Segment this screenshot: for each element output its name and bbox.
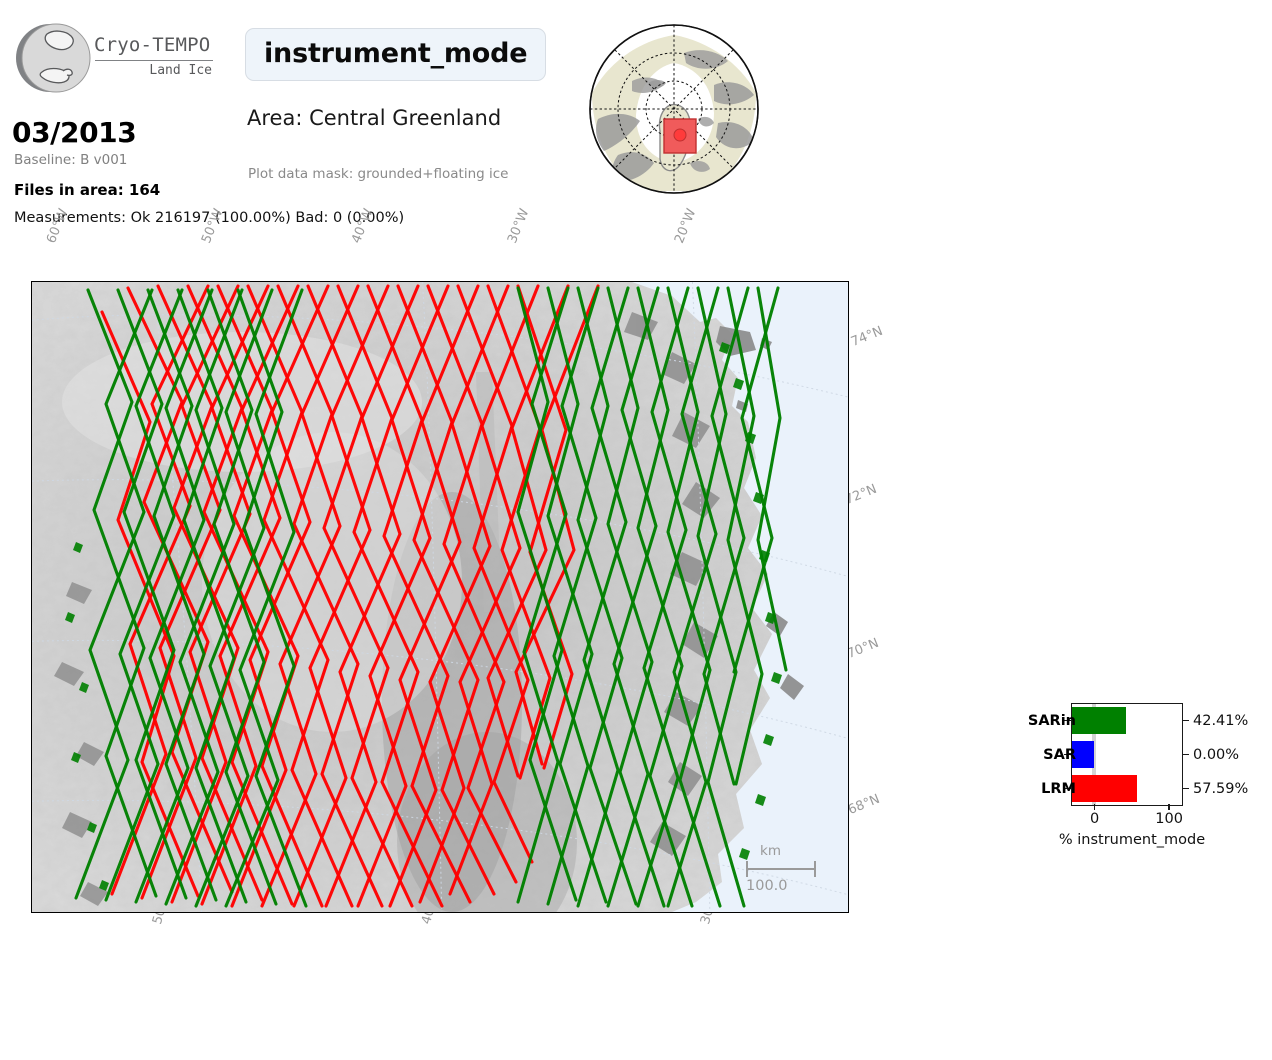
scalebar-line: [746, 868, 816, 870]
bar-chart-plot-area: [1071, 703, 1183, 806]
logo-title: Cryo-TEMPO: [94, 36, 213, 55]
scalebar-value: 100.0: [746, 878, 788, 894]
map-scalebar: km 100.0: [716, 843, 846, 905]
x-axis-title: % instrument_mode: [1002, 832, 1262, 848]
lat-label-0: 74°N: [849, 324, 885, 350]
xtick-label-0: 0: [1070, 811, 1120, 827]
bar-lrm: [1072, 775, 1137, 802]
lon-label-top-4: 20°W: [672, 207, 699, 246]
logo-subtitle: Land Ice: [94, 64, 212, 77]
baseline-label: Baseline: B v001: [14, 152, 127, 168]
page-title: instrument_mode: [245, 28, 546, 81]
data-mask-label: Plot data mask: grounded+floating ice: [248, 166, 508, 182]
cryo-tempo-logo: Cryo-TEMPO Land Ice: [14, 14, 204, 106]
map-panel[interactable]: [31, 281, 849, 913]
lat-label-3: 68°N: [846, 792, 882, 818]
greenland-track-map[interactable]: [32, 282, 848, 912]
files-count-label: Files in area: 164: [14, 181, 160, 199]
value-label-sarin: 42.41%: [1193, 713, 1248, 729]
locator-globe-inset: [588, 23, 760, 195]
date-label: 03/2013: [12, 116, 136, 149]
value-label-sar: 0.00%: [1193, 747, 1239, 763]
north-polar-globe-icon: [588, 23, 760, 195]
ytick-right-2: [1182, 788, 1189, 789]
cat-label-sarin: SARin: [1028, 713, 1076, 729]
value-label-lrm: 57.59%: [1193, 781, 1248, 797]
xtick-0: [1094, 804, 1095, 810]
area-label: Area: Central Greenland: [247, 106, 501, 130]
globe-ice-logo-icon: [14, 14, 92, 102]
xtick-1: [1168, 804, 1169, 810]
cat-label-sar: SAR: [1043, 747, 1076, 763]
bar-sarin: [1072, 707, 1126, 734]
instrument-mode-bar-chart: SARin SAR LRM 42.41% 0.00% 57.59% 0 100 …: [1002, 700, 1262, 840]
scalebar-end-right: [814, 861, 816, 877]
cat-label-lrm: LRM: [1041, 781, 1076, 797]
xtick-label-1: 100: [1144, 811, 1194, 827]
logo-divider: [95, 60, 213, 61]
lat-label-2: 70°N: [845, 636, 881, 662]
ytick-right-1: [1182, 754, 1189, 755]
lon-label-top-3: 30°W: [505, 207, 532, 246]
ytick-right-0: [1182, 720, 1189, 721]
scalebar-unit: km: [760, 843, 781, 859]
scalebar-end-left: [746, 861, 748, 877]
